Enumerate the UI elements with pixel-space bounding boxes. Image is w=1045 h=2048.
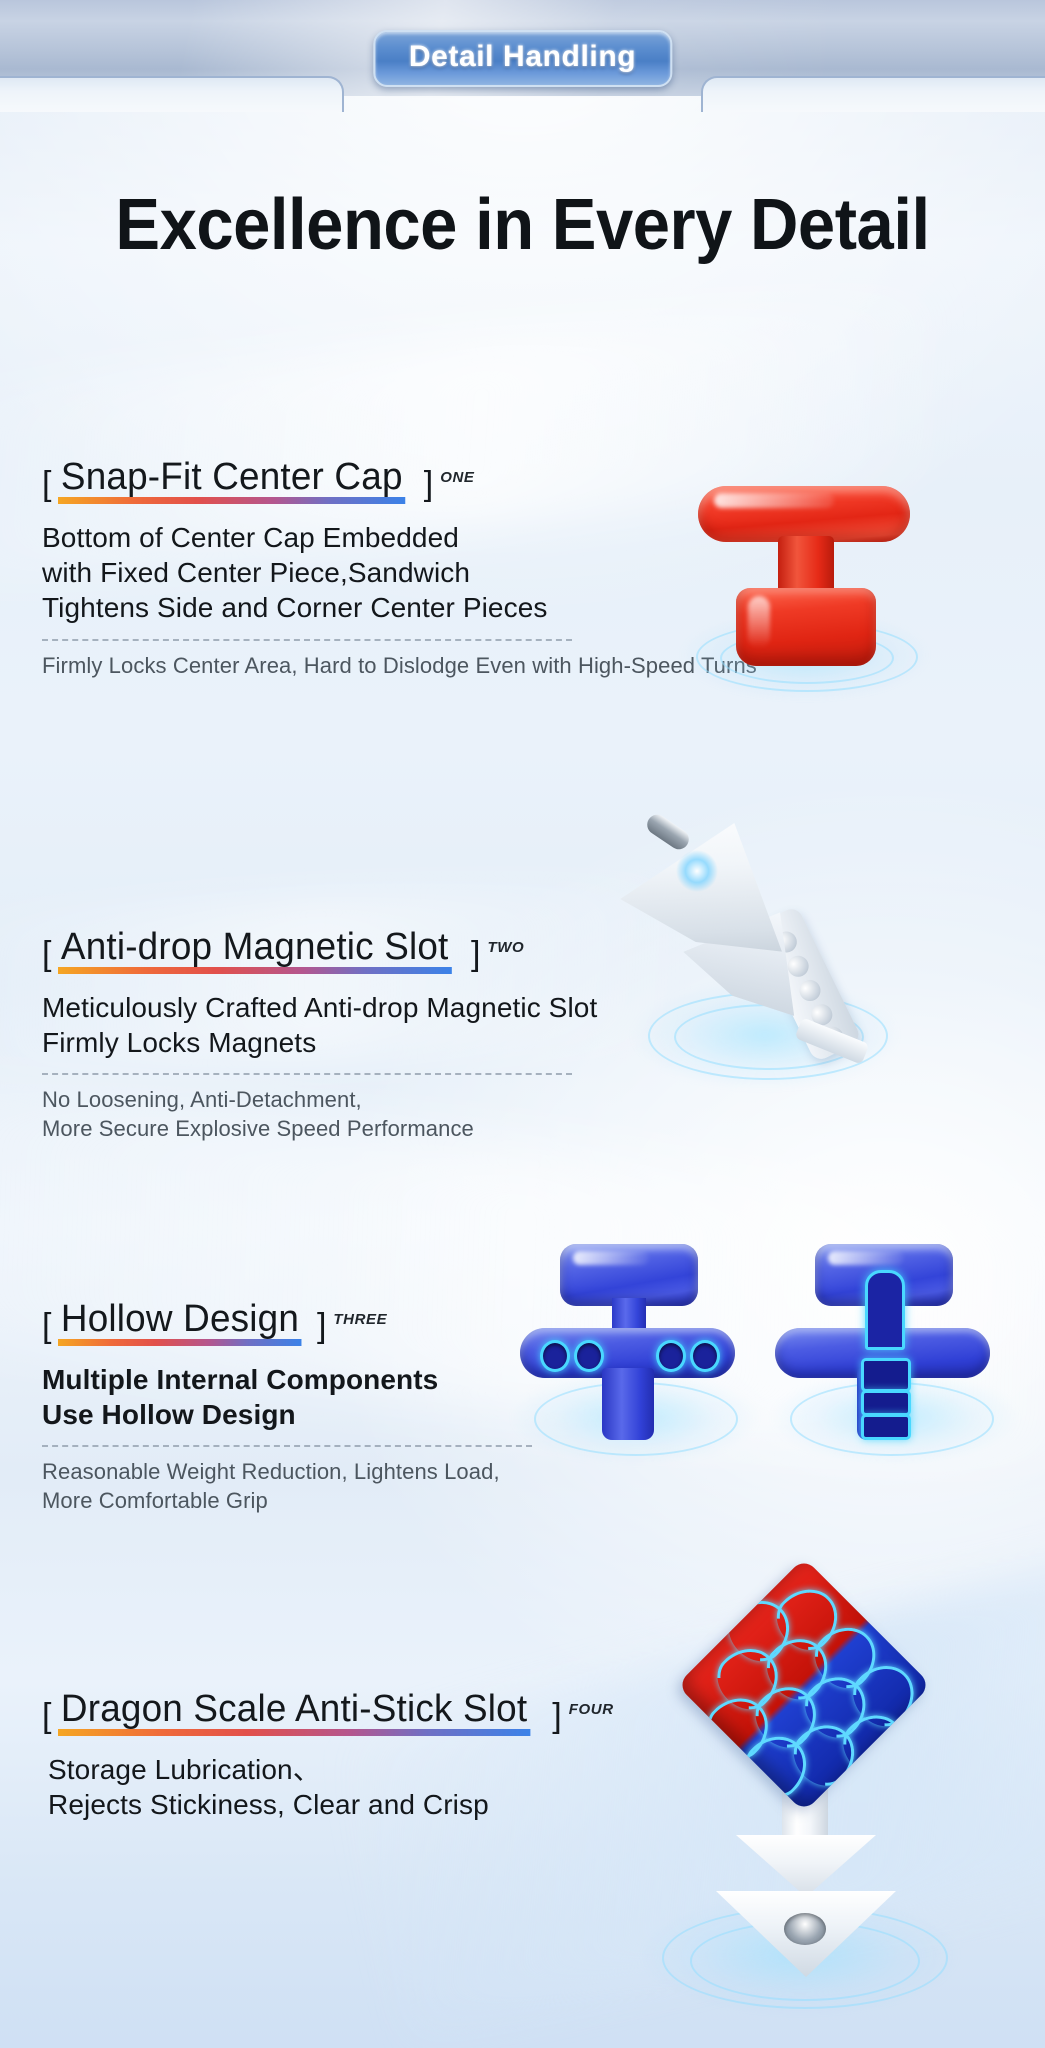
- feature-heading-row: [ Dragon Scale Anti-Stick Slot ] FOUR: [42, 1690, 614, 1736]
- hollow-hole: [690, 1340, 720, 1372]
- feature-body: Storage Lubrication、 Rejects Stickiness,…: [48, 1752, 614, 1823]
- feature-ordinal: TWO: [487, 939, 524, 974]
- banner-shelf-left: [0, 76, 344, 112]
- bracket-close: ]: [424, 467, 433, 504]
- magnet-pin: [643, 811, 692, 853]
- glow-ring: [534, 1382, 738, 1456]
- feature-ordinal: FOUR: [569, 1701, 614, 1736]
- banner-pill-label: Detail Handling: [409, 40, 636, 74]
- hollow-piece-front: [520, 1240, 735, 1440]
- feature-heading-row: [ Anti-drop Magnetic Slot ] TWO: [42, 928, 597, 974]
- feature-caption: Firmly Locks Center Area, Hard to Dislod…: [42, 652, 757, 681]
- bracket-open: [: [42, 1309, 51, 1346]
- feature-body: Multiple Internal Components Use Hollow …: [42, 1362, 532, 1433]
- bracket-open: [: [42, 937, 51, 974]
- top-banner: Detail Handling: [0, 0, 1045, 96]
- diamond-face: [677, 1558, 932, 1813]
- bracket-open: [: [42, 1699, 51, 1736]
- glow-ring: [690, 1921, 920, 2001]
- glow-halo: [640, 1895, 960, 2015]
- piece-shaft: [782, 1743, 828, 1849]
- glow-halo: [510, 1370, 760, 1465]
- feature-ordinal: ONE: [440, 469, 474, 504]
- magnetic-slot-image: [600, 800, 900, 1090]
- piece-cap: [560, 1244, 698, 1306]
- piece-wings: [520, 1328, 735, 1378]
- slot-hole: [796, 976, 824, 1004]
- piece-neck: [867, 1298, 901, 1340]
- banner-shelf-right: [701, 76, 1045, 112]
- dragon-scale-piece-image: [680, 1595, 930, 1985]
- feature-block-snap-fit-center-cap: [ Snap-Fit Center Cap ] ONE Bottom of Ce…: [42, 458, 757, 680]
- feature-block-dragon-scale-anti-stick-slot: [ Dragon Scale Anti-Stick Slot ] FOUR St…: [42, 1690, 614, 1822]
- piece-neck: [612, 1298, 646, 1340]
- cap-base: [736, 588, 876, 666]
- feature-body: Bottom of Center Cap Embedded with Fixed…: [42, 520, 757, 626]
- glow-halo: [630, 980, 900, 1090]
- hollow-piece-cutaway: [775, 1240, 990, 1440]
- bracket-close: ]: [471, 937, 480, 974]
- piece-wings: [775, 1328, 990, 1378]
- feature-block-anti-drop-magnetic-slot: [ Anti-drop Magnetic Slot ] TWO Meticulo…: [42, 928, 597, 1144]
- hollow-hole: [656, 1340, 686, 1372]
- glow-halo: [770, 1370, 1020, 1465]
- hollow-hole: [574, 1340, 604, 1372]
- glow-ring: [790, 1382, 994, 1456]
- feature-divider: [42, 639, 572, 641]
- piece-post: [857, 1368, 909, 1440]
- slot-hole: [819, 1023, 847, 1051]
- feature-title: Hollow Design: [58, 1300, 302, 1346]
- slot-hole: [784, 952, 812, 980]
- glow-ring: [648, 992, 888, 1080]
- arm-foot: [795, 1017, 870, 1064]
- page-title: Excellence in Every Detail: [37, 184, 1009, 266]
- feature-divider: [42, 1445, 532, 1447]
- feature-caption: Reasonable Weight Reduction, Lightens Lo…: [42, 1458, 532, 1515]
- hollow-slot: [861, 1390, 911, 1416]
- blue-hollow-pieces-image: [520, 1240, 1020, 1440]
- feature-divider: [42, 1073, 572, 1075]
- bracket-close: ]: [552, 1699, 561, 1736]
- feature-title: Dragon Scale Anti-Stick Slot: [58, 1690, 530, 1736]
- feature-body: Meticulously Crafted Anti-drop Magnetic …: [42, 990, 597, 1061]
- corner-fan-back: [677, 880, 836, 1027]
- piece-cone-upper: [736, 1835, 876, 1897]
- feature-heading-row: [ Snap-Fit Center Cap ] ONE: [42, 458, 757, 504]
- hollow-slot: [861, 1414, 911, 1440]
- feature-ordinal: THREE: [333, 1311, 387, 1346]
- bracket-open: [: [42, 467, 51, 504]
- slotted-arm: [750, 905, 862, 1063]
- slot-hole: [808, 1001, 836, 1029]
- feature-heading-row: [ Hollow Design ] THREE: [42, 1300, 532, 1346]
- feature-block-hollow-design: [ Hollow Design ] THREE Multiple Interna…: [42, 1300, 532, 1516]
- dragon-scale-pattern: [677, 1558, 932, 1813]
- hollow-hole: [540, 1340, 570, 1372]
- feature-title: Anti-drop Magnetic Slot: [58, 928, 451, 974]
- product-detail-page: Detail Handling Excellence in Every Deta…: [0, 0, 1045, 2048]
- hollow-slot: [861, 1358, 911, 1392]
- bracket-close: ]: [317, 1309, 326, 1346]
- piece-cone-lower: [716, 1891, 896, 1977]
- piece-cap: [815, 1244, 953, 1306]
- glow-ring: [674, 1004, 864, 1070]
- piece-post: [602, 1368, 654, 1440]
- hollow-channel: [865, 1270, 905, 1350]
- cap-stem: [778, 536, 834, 602]
- slot-hole: [772, 928, 800, 956]
- glow-ring: [662, 1907, 948, 2009]
- screw-head: [784, 1913, 826, 1945]
- banner-pill: Detail Handling: [373, 30, 672, 87]
- feature-caption: No Loosening, Anti-Detachment, More Secu…: [42, 1086, 597, 1143]
- corner-fan-front: [615, 797, 815, 968]
- magnet-glow: [676, 850, 718, 892]
- feature-title: Snap-Fit Center Cap: [58, 458, 406, 504]
